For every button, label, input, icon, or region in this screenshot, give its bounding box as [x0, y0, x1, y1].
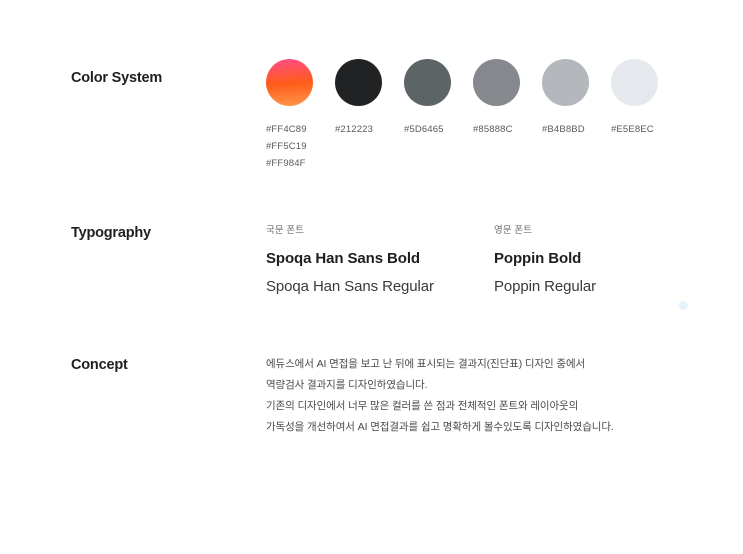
color-swatch-item: #85888C	[473, 59, 520, 171]
typography-korean-block: 국문 폰트 Spoqa Han Sans Bold Spoqa Han Sans…	[266, 222, 434, 295]
hex-code-list: #5D6465	[404, 122, 444, 137]
typography-english-caption: 영문 폰트	[494, 222, 596, 236]
typography-english-block: 영문 폰트 Poppin Bold Poppin Regular	[494, 222, 596, 295]
typography-korean-regular-sample: Spoqa Han Sans Regular	[266, 278, 434, 295]
style-guide-page: Color System Typography Concept #FF4C89#…	[0, 0, 743, 554]
color-swatch-light-gray	[542, 59, 589, 106]
color-swatch-row: #FF4C89#FF5C19#FF984F#212223#5D6465#8588…	[266, 59, 658, 171]
concept-line: 에듀스에서 AI 면접을 보고 난 뒤에 표시되는 결과지(진단표) 디자인 중…	[266, 354, 686, 375]
concept-paragraph: 에듀스에서 AI 면접을 보고 난 뒤에 표시되는 결과지(진단표) 디자인 중…	[266, 354, 686, 438]
color-swatch-near-black	[335, 59, 382, 106]
typography-korean-bold-sample: Spoqa Han Sans Bold	[266, 250, 434, 267]
section-label-typography: Typography	[71, 225, 151, 241]
color-swatch-dark-slate-gray	[404, 59, 451, 106]
hex-code-label: #B4B8BD	[542, 122, 585, 137]
concept-line: 기존의 디자인에서 너무 많은 컬러를 쓴 점과 전체적인 폰트와 레이아웃의	[266, 396, 686, 417]
hex-code-list: #212223	[335, 122, 373, 137]
hex-code-list: #FF4C89#FF5C19#FF984F	[266, 122, 307, 171]
color-swatch-item: #FF4C89#FF5C19#FF984F	[266, 59, 313, 171]
hex-code-label: #FF984F	[266, 156, 307, 171]
hex-code-list: #E5E8EC	[611, 122, 654, 137]
concept-line: 역량검사 결과지를 디자인하였습니다.	[266, 375, 686, 396]
color-swatch-item: #212223	[335, 59, 382, 171]
color-swatch-pale-gray	[611, 59, 658, 106]
color-swatch-item: #E5E8EC	[611, 59, 658, 171]
hex-code-label: #5D6465	[404, 122, 444, 137]
typography-english-regular-sample: Poppin Regular	[494, 278, 596, 295]
typography-english-bold-sample: Poppin Bold	[494, 250, 596, 267]
color-swatch-item: #5D6465	[404, 59, 451, 171]
section-label-color-system: Color System	[71, 70, 162, 86]
color-swatch-item: #B4B8BD	[542, 59, 589, 171]
hex-code-label: #FF4C89	[266, 122, 307, 137]
color-swatch-gradient-coral	[266, 59, 313, 106]
hex-code-label: #85888C	[473, 122, 513, 137]
color-swatch-mid-gray	[473, 59, 520, 106]
section-label-concept: Concept	[71, 357, 128, 373]
hex-code-label: #FF5C19	[266, 139, 307, 154]
hex-code-label: #E5E8EC	[611, 122, 654, 137]
typography-korean-caption: 국문 폰트	[266, 222, 434, 236]
concept-line: 가독성을 개선하여서 AI 면접결과를 쉽고 명확하게 볼수있도록 디자인하였습…	[266, 417, 686, 438]
hex-code-label: #212223	[335, 122, 373, 137]
hex-code-list: #B4B8BD	[542, 122, 585, 137]
hex-code-list: #85888C	[473, 122, 513, 137]
watermark-artifact-icon	[679, 301, 688, 310]
